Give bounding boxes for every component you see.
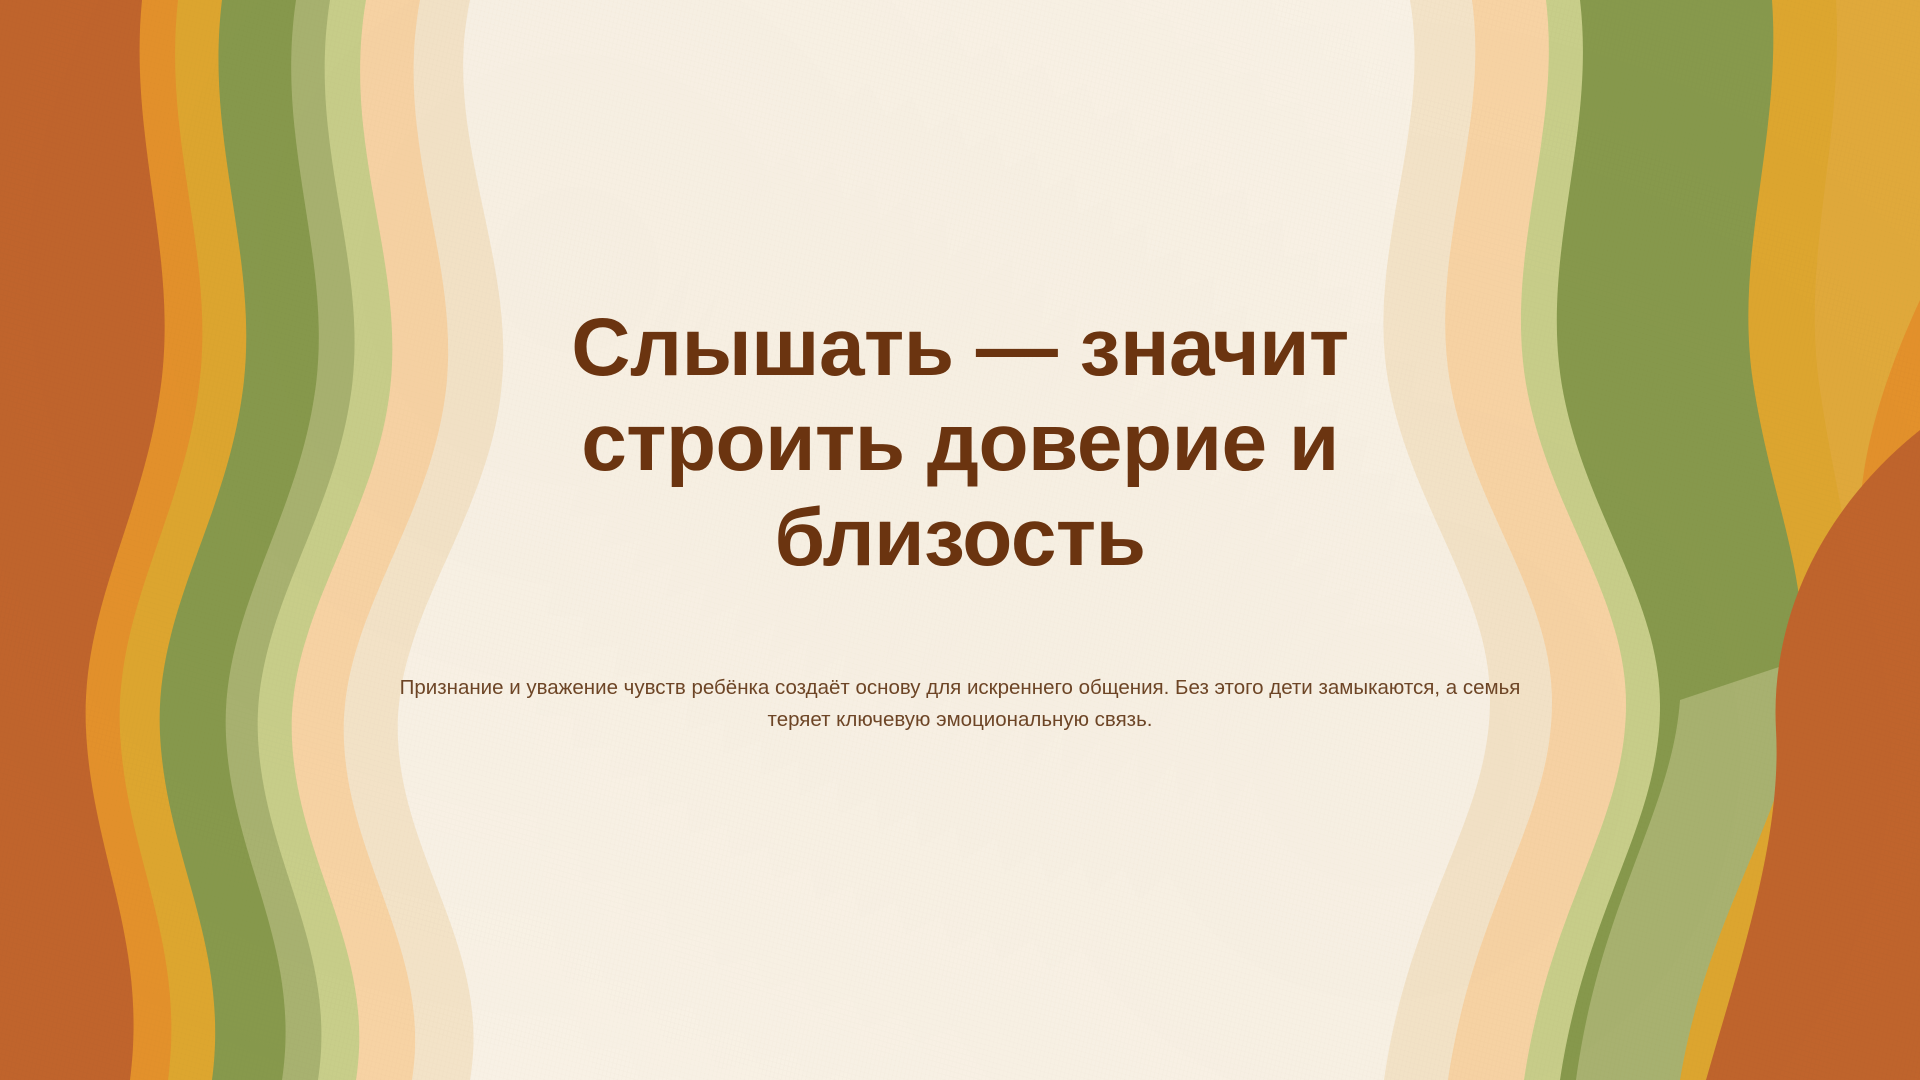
slide-content: Слышать — значит строить доверие и близо… xyxy=(0,0,1920,1080)
slide-title: Слышать — значит строить доверие и близо… xyxy=(460,300,1460,585)
presentation-slide: Слышать — значит строить доверие и близо… xyxy=(0,0,1920,1080)
slide-subtitle: Признание и уважение чувств ребёнка созд… xyxy=(385,672,1535,736)
